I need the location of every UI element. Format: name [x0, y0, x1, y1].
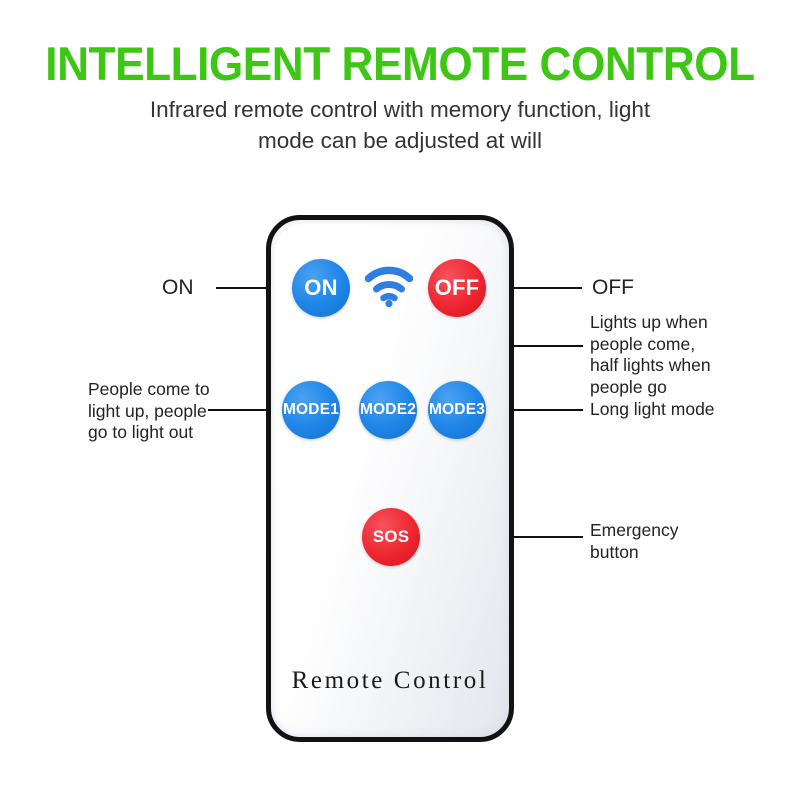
callout-off: OFF	[592, 275, 732, 300]
remote-button-mode2-label: MODE2	[360, 401, 416, 419]
remote-button-mode3-label: MODE3	[429, 401, 485, 419]
callout-mode2: Lights up when people come, half lights …	[590, 312, 750, 398]
callout-mode1-line-1: People come to	[88, 379, 218, 401]
remote-button-sos[interactable]: SOS	[362, 508, 420, 566]
remote-button-mode1[interactable]: MODE1	[282, 381, 340, 439]
callout-mode2-line-2: people come,	[590, 334, 750, 356]
callout-mode1: People come to light up, people go to li…	[88, 379, 218, 444]
callout-mode2-line-1: Lights up when	[590, 312, 750, 334]
callout-mode2-line-4: people go	[590, 377, 750, 399]
page-title: INTELLIGENT REMOTE CONTROL	[24, 38, 776, 90]
subtitle-line-2: mode can be adjusted at will	[120, 125, 680, 156]
infographic-canvas: INTELLIGENT REMOTE CONTROL Infrared remo…	[0, 0, 800, 800]
page-subtitle: Infrared remote control with memory func…	[120, 94, 680, 156]
remote-button-off-label: OFF	[435, 275, 480, 301]
callout-mode3: Long light mode	[590, 399, 760, 421]
remote-button-on[interactable]: ON	[292, 259, 350, 317]
remote-button-mode1-label: MODE1	[283, 401, 339, 419]
remote-button-sos-label: SOS	[373, 527, 410, 547]
remote-button-mode3[interactable]: MODE3	[428, 381, 486, 439]
callout-mode2-line-3: half lights when	[590, 355, 750, 377]
callout-mode1-line-2: light up, people	[88, 401, 218, 423]
remote-brand-text: Remote Control	[266, 667, 514, 695]
remote-button-off[interactable]: OFF	[428, 259, 486, 317]
callout-on: ON	[162, 275, 232, 300]
callout-mode1-line-3: go to light out	[88, 422, 218, 444]
callout-off-text: OFF	[592, 275, 732, 300]
callout-sos: Emergency button	[590, 520, 740, 563]
callout-mode3-text: Long light mode	[590, 399, 760, 421]
callout-sos-line-2: button	[590, 542, 740, 564]
callout-on-text: ON	[162, 275, 232, 300]
remote-button-mode2[interactable]: MODE2	[359, 381, 417, 439]
remote-button-on-label: ON	[304, 275, 337, 301]
callout-sos-line-1: Emergency	[590, 520, 740, 542]
wifi-signal-icon	[365, 265, 413, 307]
subtitle-line-1: Infrared remote control with memory func…	[120, 94, 680, 125]
